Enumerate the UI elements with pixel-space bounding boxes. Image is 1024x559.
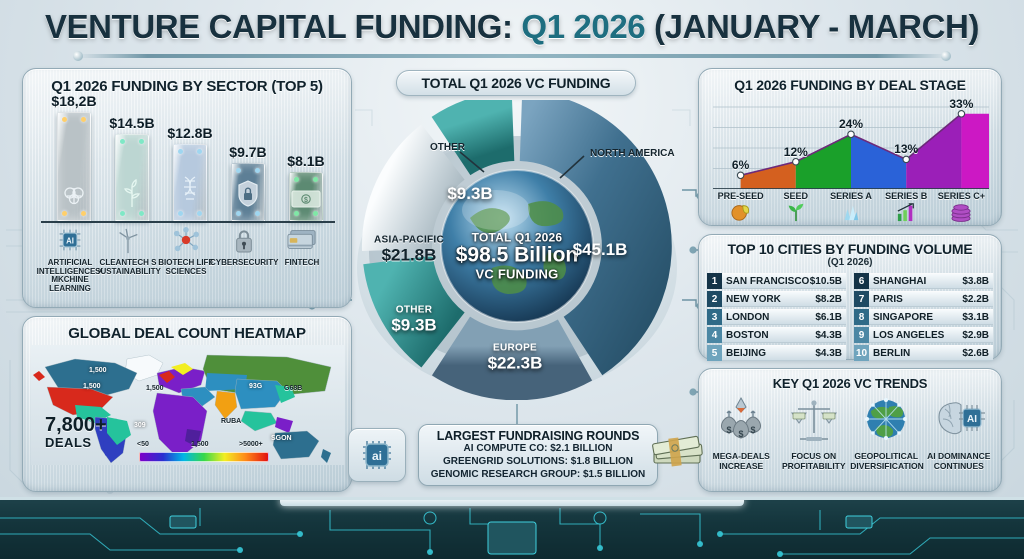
money-bags-rocket-icon: $$$ [705,395,777,450]
molecule-icon [172,227,200,258]
panel-funding-by-deal-stage: Q1 2026 FUNDING BY DEAL STAGE PRE-SEED6%… [698,68,1002,226]
bar-stud [139,139,144,144]
sector-bar [57,112,92,221]
city-row[interactable]: 9LOS ANGELES$2.9B [854,327,993,343]
leaf-plant-icon [119,179,145,214]
donut-segment-value: $45.1B [573,240,628,260]
donut-segment-value: $21.8B [374,246,444,266]
donut-callout-label: OTHER [430,142,465,153]
city-funding-value: $4.3B [815,348,842,359]
title-divider [78,54,946,58]
heatmap-colorbar [139,452,269,462]
trend-label: GEOPOLITICAL DIVERSIFICATION [850,452,922,471]
sector-bar-value: $8.1B [287,153,324,169]
city-row-body: LOS ANGELES$2.9B [869,327,993,343]
sector-bar-column: $8.1B$ [289,150,324,221]
heatmap-total-value: 7,800+ [45,415,107,435]
stage-category-label: PRE-SEED [718,191,764,201]
city-row[interactable]: 1SAN FRANCISCO$10.5B [707,273,846,289]
city-row-body: SAN FRANCISCO$10.5B [722,273,846,289]
city-row-body: SHANGHAI$3.8B [869,273,993,289]
city-name: PARIS [873,294,903,305]
city-rank-badge: 5 [707,345,722,361]
heatmap-total: 7,800+ DEALS [45,415,107,450]
bar-stud [120,139,125,144]
sector-bar [231,163,266,221]
city-row-body: SINGAPORE$3.1B [869,309,993,325]
city-name: LONDON [726,312,769,323]
ai-chip-badge: ai [348,428,406,482]
crystal-icon [840,202,862,227]
title-highlight: Q1 2026 [521,8,645,45]
panel-key-trends: KEY Q1 2026 VC TRENDS $$$MEGA-DEALS INCR… [698,368,1002,492]
city-row-body: BOSTON$4.3B [722,327,846,343]
panel-top-cities: TOP 10 CITIES BY FUNDING VOLUME (Q1 2026… [698,234,1002,360]
city-funding-value: $2.9B [962,330,989,341]
sector-bars-area: $18,2B$14.5B$12.8B$9.7B$8.1B$ [33,101,343,223]
donut-segment-label: ASIA-PACIFIC$21.8B [374,235,444,266]
city-name: SAN FRANCISCO [726,276,809,287]
cash-stack-icon [650,428,706,480]
cities-table: 1SAN FRANCISCO$10.5B6SHANGHAI$3.8B2NEW Y… [707,273,993,361]
ai-chip-icon: ai [357,435,397,475]
heatmap-annotation: 309 [134,422,146,429]
city-funding-value: $10.5B [810,276,842,287]
city-row[interactable]: 10BERLIN$2.6B [854,345,993,361]
city-name: BOSTON [726,330,769,341]
trend-label: AI DOMINANCE CONTINUES [923,452,995,471]
cities-panel-subtitle: (Q1 2026) [699,257,1001,268]
sector-bar: $ [289,172,324,221]
heatmap-annotation: G68B [284,385,302,392]
brain-icon [61,183,87,214]
bar-stud [313,177,318,182]
stage-value-label: 33% [949,97,973,111]
stage-category-label: SERIES A [830,191,872,201]
donut-segment-label: OTHER$9.3B [391,305,436,336]
shield-lock-icon [235,179,261,214]
banknote-icon: $ [291,189,321,214]
padlock-icon [233,227,255,260]
donut-segment-name: EUROPE [488,343,543,354]
stage-value-label: 12% [784,145,808,159]
city-row[interactable]: 4BOSTON$4.3B [707,327,846,343]
city-rank-badge: 10 [854,345,869,361]
stage-chart-svg [713,97,989,189]
city-row[interactable]: 5BEIJING$4.3B [707,345,846,361]
city-name: BERLIN [873,348,910,359]
round-item: AI COMPUTE CO: $2.1 BILLION [419,443,657,456]
stage-data-point [737,172,743,178]
city-row[interactable]: 3LONDON$6.1B [707,309,846,325]
city-rank-badge: 9 [854,327,869,343]
bar-stud [255,168,260,173]
stage-area-segment [961,114,989,189]
trend-label: FOCUS ON PROFITABILITY [778,452,850,471]
donut-segment-name: OTHER [391,305,436,316]
infographic-canvas: VENTURE CAPITAL FUNDING: Q1 2026 (JANUAR… [0,0,1024,559]
sector-bar-value: $9.7B [229,144,266,160]
svg-text:AI: AI [66,236,74,245]
sector-bar-value: $12.8B [167,125,212,141]
footer-circuit-band [0,497,1024,559]
svg-text:$: $ [727,425,732,435]
sector-bar-value: $18,2B [51,93,96,109]
city-rank-badge: 1 [707,273,722,289]
heatmap-annotation: 1,500 [89,367,107,374]
panel-largest-rounds: LARGEST FUNDRAISING ROUNDS AI COMPUTE CO… [418,424,658,486]
city-rank-badge: 3 [707,309,722,325]
city-row-body: BERLIN$2.6B [869,345,993,361]
heatmap-panel-title: GLOBAL DEAL COUNT HEATMAP [23,325,351,342]
trend-item: FOCUS ON PROFITABILITY [778,395,850,471]
sector-bar [115,134,150,221]
city-name: SINGAPORE [873,312,933,323]
round-item: GENOMIC RESEARCH GROUP: $1.5 BILLION [419,469,657,482]
stage-area-chart [713,97,989,189]
donut-callout-label: NORTH AMERICA [590,148,675,159]
balance-scale-icon [778,395,850,450]
svg-text:ai: ai [372,449,382,463]
city-name: LOS ANGELES [873,330,944,341]
colorbar-tick-mid: 1,500 [191,441,209,448]
city-rank-badge: 2 [707,291,722,307]
city-rank-badge: 4 [707,327,722,343]
trend-item: $$$MEGA-DEALS INCREASE [705,395,777,471]
title-main: VENTURE CAPITAL FUNDING: [45,8,513,45]
city-funding-value: $3.1B [962,312,989,323]
heatmap-annotation: SGON [271,435,292,442]
growth-chart-icon [895,202,917,227]
sector-bar-column: $14.5B [115,112,150,221]
stage-value-label: 13% [894,142,918,156]
cash-stack-badge [650,428,706,480]
stage-data-point [903,156,909,162]
trends-list: $$$MEGA-DEALS INCREASEFOCUS ON PROFITABI… [705,395,995,471]
wind-turbine-icon [115,227,141,260]
city-row-body: BEIJING$4.3B [722,345,846,361]
donut-segment-value: $22.3B [488,354,543,374]
bar-stud [62,117,67,122]
bar-stud [236,168,241,173]
city-row[interactable]: 8SINGAPORE$3.1B [854,309,993,325]
trends-panel-title: KEY Q1 2026 VC TRENDS [699,376,1001,391]
svg-text:$: $ [304,197,308,204]
rounds-title: LARGEST FUNDRAISING ROUNDS [419,429,657,443]
city-name: NEW YORK [726,294,781,305]
title-tail: (JANUARY - MARCH) [654,8,979,45]
connected-globe-icon [850,395,922,450]
rounds-items: AI COMPUTE CO: $2.1 BILLIONGREENGRID SOL… [419,443,657,481]
svg-text:AI: AI [967,414,977,425]
total-funding-donut: TOTAL Q1 2026 $98.5 Billion VC FUNDING $… [352,100,682,400]
ai-chip-icon: AI [57,227,83,258]
colorbar-tick-low: <50 [137,441,149,448]
city-rank-badge: 7 [854,291,869,307]
city-funding-value: $2.6B [962,348,989,359]
sector-category-label: FINTECH [268,259,336,268]
svg-text:$: $ [751,425,756,435]
donut-segment-value: $9.3B [391,316,436,336]
sector-icon-row: AI [29,225,345,259]
svg-text:$: $ [739,429,744,439]
city-name: BEIJING [726,348,766,359]
trend-item: GEOPOLITICAL DIVERSIFICATION [850,395,922,471]
cities-panel-title: TOP 10 CITIES BY FUNDING VOLUME [699,241,1001,257]
coin-stack-icon [949,202,973,227]
sector-bar-column: $12.8B [173,122,208,221]
heatmap-annotation: 1,500 [83,383,101,390]
stage-data-point [793,159,799,165]
city-rank-badge: 6 [854,273,869,289]
panel-funding-by-sector: Q1 2026 FUNDING BY SECTOR (TOP 5) $18,2B… [22,68,352,308]
city-funding-value: $3.8B [962,276,989,287]
sector-label-row: ARTIFICIAL INTELLIGENCE K MKCHINE LEARNI… [29,259,345,311]
city-funding-value: $2.2B [962,294,989,305]
city-row-body: NEW YORK$8.2B [722,291,846,307]
stage-value-label: 6% [732,158,749,172]
stage-panel-title: Q1 2026 FUNDING BY DEAL STAGE [699,77,1001,93]
bar-stud [197,149,202,154]
stage-value-label: 24% [839,117,863,131]
city-row[interactable]: 6SHANGHAI$3.8B [854,273,993,289]
ai-brain-chip-icon: AI [923,395,995,450]
donut-segment-label: $45.1B [573,240,628,260]
footer-circuit-traces [0,500,1024,559]
stage-data-point [958,111,964,117]
city-row[interactable]: 7PARIS$2.2B [854,291,993,307]
footer-highlight [280,497,744,506]
heatmap-annotation: RUBA [221,418,241,425]
round-item: GREENGRID SOLUTIONS: $1.8 BILLION [419,456,657,469]
credit-card-icon [287,227,317,256]
stage-category-label: SEED [784,191,809,201]
trend-label: MEGA-DEALS INCREASE [705,452,777,471]
city-row[interactable]: 2NEW YORK$8.2B [707,291,846,307]
heatmap-annotation: 93G [249,383,262,390]
donut-title-badge: TOTAL Q1 2026 VC FUNDING [396,70,636,96]
city-row-body: LONDON$6.1B [722,309,846,325]
donut-center-line3: VC FUNDING [427,267,607,282]
city-funding-value: $8.2B [815,294,842,305]
donut-panel-title: TOTAL Q1 2026 VC FUNDING [422,75,611,91]
donut-segment-label: EUROPE$22.3B [488,343,543,374]
donut-segment-value: $9.3B [447,184,492,204]
stage-category-label: SERIES B [885,191,927,201]
bar-stud [81,117,86,122]
city-funding-value: $4.3B [815,330,842,341]
dna-icon [178,175,202,214]
sector-bar-column: $9.7B [231,141,266,221]
colorbar-tick-high: >5000+ [239,441,263,448]
sector-bar-value: $14.5B [109,115,154,131]
bar-stud [294,177,299,182]
heatmap-total-label: DEALS [45,435,107,450]
city-funding-value: $6.1B [815,312,842,323]
seed-coin-icon [730,202,752,227]
world-heatmap: 7,800+ DEALS 1,5001,5001,50093GG68B309RU… [31,345,345,465]
heatmap-annotation: 1,500 [146,385,164,392]
page-title: VENTURE CAPITAL FUNDING: Q1 2026 (JANUAR… [0,8,1024,46]
city-rank-badge: 8 [854,309,869,325]
panel-deal-count-heatmap: GLOBAL DEAL COUNT HEATMAP [22,316,352,492]
stage-category-label: SERIES C+ [938,191,985,201]
sprout-icon [786,202,806,227]
donut-segment-name: ASIA-PACIFIC [374,235,444,246]
donut-segment-label: $9.3B [447,184,492,204]
stage-area-segment [796,134,851,189]
stage-data-point [848,131,854,137]
bar-stud [178,149,183,154]
sector-bar [173,144,208,221]
trend-item: AIAI DOMINANCE CONTINUES [923,395,995,471]
city-row-body: PARIS$2.2B [869,291,993,307]
sector-bar-column: $18,2B [57,90,92,221]
city-name: SHANGHAI [873,276,926,287]
